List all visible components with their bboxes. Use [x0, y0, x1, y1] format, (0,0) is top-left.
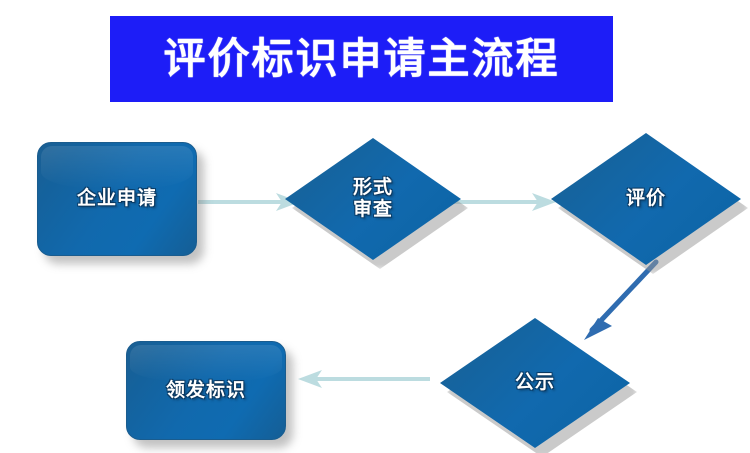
node-formal-review[interactable]: 形式 审查 — [285, 138, 461, 260]
node-label-public-notice: 公示 — [515, 372, 555, 394]
node-issue-label[interactable]: 领发标识 — [126, 341, 286, 440]
node-label-evaluation: 评价 — [626, 188, 666, 210]
node-label-wrap: 形式 审查 — [285, 138, 461, 260]
node-label-formal-review: 形式 审查 — [353, 177, 393, 221]
node-label-enterprise-application: 企业申请 — [77, 188, 157, 210]
connector-arrow-review-to-evaluation — [452, 189, 560, 215]
title-banner: 评价标识申请主流程 — [110, 16, 613, 102]
page-title: 评价标识申请主流程 — [163, 38, 559, 80]
node-evaluation[interactable]: 评价 — [551, 133, 741, 265]
node-label-wrap: 公示 — [440, 318, 630, 448]
connector-arrow-notice-to-issue — [288, 366, 434, 392]
node-label-issue-label: 领发标识 — [166, 380, 246, 402]
flowchart-canvas: 评价标识申请主流程 企业申请 形式 审 — [0, 0, 750, 453]
node-public-notice[interactable]: 公示 — [440, 318, 630, 448]
node-label-wrap: 评价 — [551, 133, 741, 265]
node-enterprise-application[interactable]: 企业申请 — [37, 142, 197, 256]
